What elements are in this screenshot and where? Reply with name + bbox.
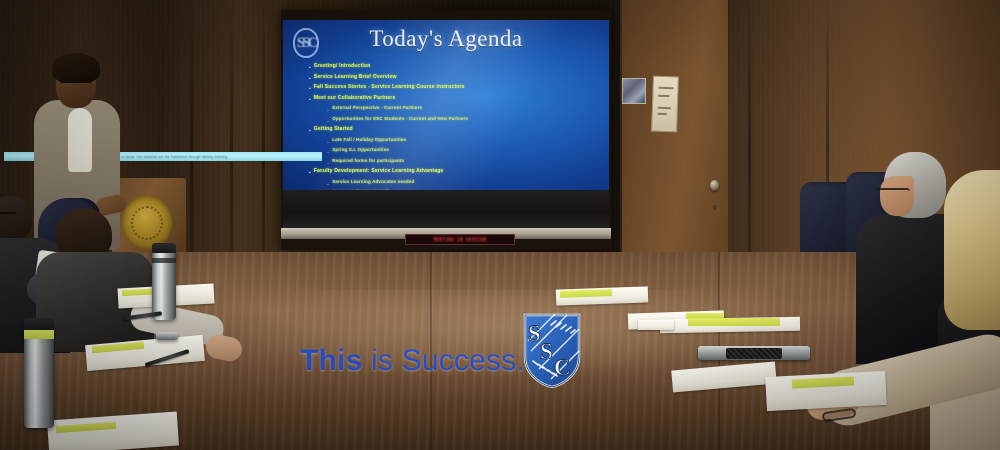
slide-bullet-text: Fall Success Stories - Service Learning … bbox=[314, 85, 465, 90]
conference-microphone bbox=[156, 332, 178, 340]
sub-bullet-marker-icon: – bbox=[327, 117, 329, 125]
sub-bullet-marker-icon: – bbox=[327, 180, 329, 188]
slide-bullet-text: Required forms for participants bbox=[332, 159, 404, 164]
slide-bullet-text: Service Learning Brief Overview bbox=[314, 75, 397, 80]
microphone-mesh bbox=[726, 348, 782, 359]
travel-mug-lid bbox=[24, 318, 54, 330]
attendee-right-man-face bbox=[880, 176, 914, 216]
handout-paper-small bbox=[638, 320, 674, 330]
sub-bullet-marker-icon: – bbox=[327, 148, 329, 156]
presenter-glasses-icon bbox=[60, 81, 92, 88]
brand-tagline: This is Success. bbox=[300, 344, 525, 378]
travel-mug-band bbox=[152, 258, 176, 263]
door-sign bbox=[651, 76, 679, 133]
slide-bullet-text: Service Learning Advocates needed bbox=[332, 180, 414, 185]
slide-bullet-text: Late Fall / Holiday Opportunities bbox=[332, 138, 406, 143]
attendee-right-man-glasses-icon bbox=[876, 188, 910, 195]
slide-bullet-text: External Perspective - Current Partners bbox=[332, 106, 422, 111]
slide-bullet-row: –Required forms for participants bbox=[305, 159, 595, 167]
podium-seal-icon bbox=[122, 196, 172, 250]
slide-bullet-row: –Late Fall / Holiday Opportunities bbox=[305, 138, 595, 146]
bullet-marker-icon: ▪ bbox=[309, 127, 311, 135]
attendee-front-left-glasses-icon bbox=[0, 212, 16, 218]
slide-bullet-text: Faculty Development: Service Learning Ad… bbox=[314, 169, 444, 174]
sub-bullet-marker-icon: – bbox=[327, 159, 329, 167]
led-message-text: MEETING IN SESSION bbox=[434, 237, 486, 242]
screen-lower-dark-area bbox=[283, 190, 609, 228]
slide-bullet-list: ▪Greeting/ Introduction▪Service Learning… bbox=[305, 64, 595, 190]
slide-bullet-text: Getting Started bbox=[314, 127, 353, 132]
door-knob-icon[interactable] bbox=[710, 180, 719, 191]
slide-bullet-text: Meet our Collaborative Partners bbox=[314, 96, 396, 101]
handout-highlight bbox=[688, 318, 780, 326]
travel-mug-lid bbox=[152, 243, 176, 253]
slide-bullet-row: ▪Getting Started bbox=[305, 127, 595, 135]
slide-bullet-row: ▪Meet our Collaborative Partners bbox=[305, 96, 595, 104]
bullet-marker-icon: ▪ bbox=[309, 96, 311, 104]
slide-bullet-row: –External Perspective - Current Partners bbox=[305, 106, 595, 114]
shield-letter-1: S bbox=[528, 321, 541, 346]
presentation-slide: SSC Today's Agenda ▪Greeting/ Introducti… bbox=[283, 20, 609, 190]
screenshot-root: SSC Today's Agenda ▪Greeting/ Introducti… bbox=[0, 0, 1000, 450]
bullet-marker-icon: ▪ bbox=[309, 64, 311, 72]
bullet-marker-icon: ▪ bbox=[309, 169, 311, 177]
slide-bullet-text: Spring S.L Opportunities bbox=[332, 148, 389, 153]
slide-bullet-row: ▪Faculty Development: Service Learning A… bbox=[305, 169, 595, 177]
travel-mug bbox=[24, 324, 54, 428]
bullet-marker-icon: ▪ bbox=[309, 85, 311, 93]
slide-bullet-row: –Service Learning Advocates needed bbox=[305, 180, 595, 188]
presenter-hair bbox=[52, 53, 100, 83]
presenter-turtleneck bbox=[68, 108, 92, 172]
travel-mug-label bbox=[24, 330, 54, 339]
slide-bullet-text: Greeting/ Introduction bbox=[314, 64, 371, 69]
led-message-display: MEETING IN SESSION bbox=[405, 234, 515, 245]
slide-bullet-row: ▪Service Learning Brief Overview bbox=[305, 75, 595, 83]
sub-bullet-marker-icon: – bbox=[327, 106, 329, 114]
slide-bullet-row: ▪Fall Success Stories - Service Learning… bbox=[305, 85, 595, 93]
attendee-right-woman-hair bbox=[944, 170, 1000, 330]
tagline-rest: is Success. bbox=[362, 344, 524, 377]
tagline-bold-word: This bbox=[300, 344, 362, 377]
ssc-shield-logo-icon: S S C bbox=[521, 311, 583, 391]
door-photo bbox=[622, 78, 646, 104]
slide-bullet-row: –Opportunities for SSC Students - Curren… bbox=[305, 117, 595, 125]
sub-bullet-marker-icon: – bbox=[327, 138, 329, 146]
door-strike-plate bbox=[713, 205, 716, 210]
slide-title: Today's Agenda bbox=[283, 26, 609, 52]
shield-letter-2: S bbox=[540, 339, 553, 364]
slide-bullet-row: ▪Greeting/ Introduction bbox=[305, 64, 595, 72]
slide-bullet-text: Opportunities for SSC Students - Current… bbox=[332, 117, 468, 122]
bullet-marker-icon: ▪ bbox=[309, 75, 311, 83]
slide-bullet-row: –Spring S.L Opportunities bbox=[305, 148, 595, 156]
